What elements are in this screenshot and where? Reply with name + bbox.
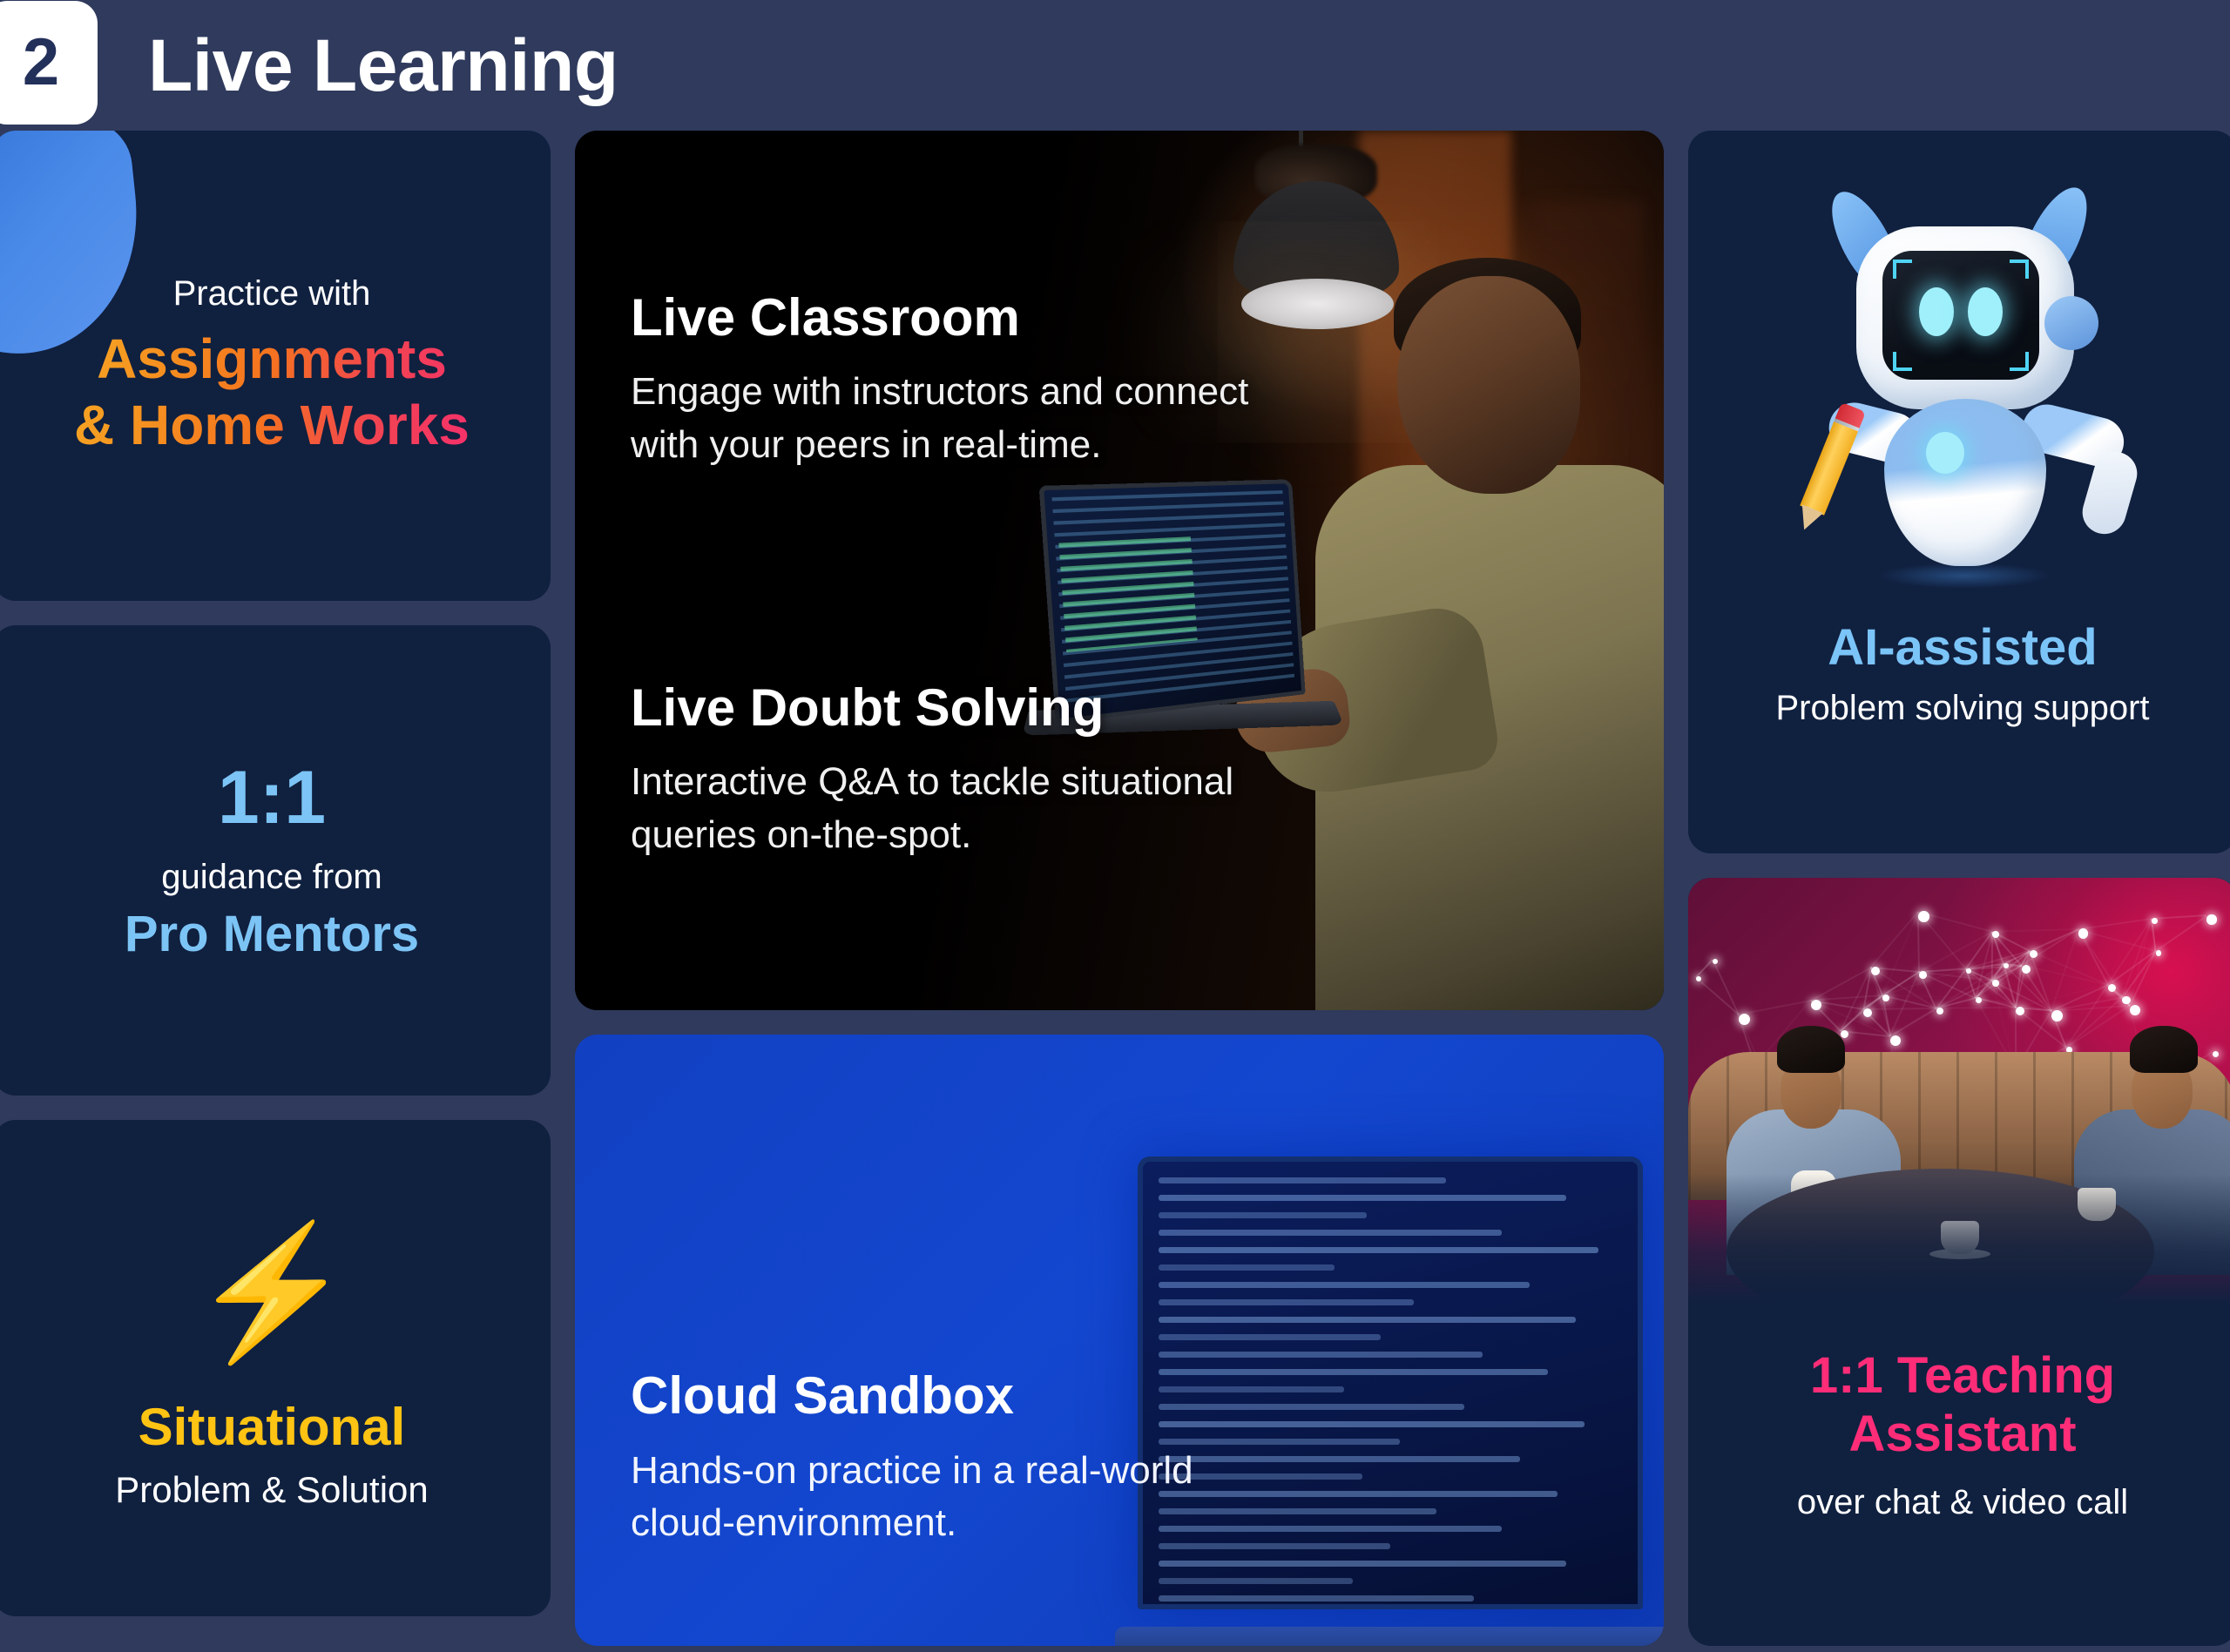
- situational-sub: Problem & Solution: [115, 1469, 429, 1511]
- mentors-headline: Pro Mentors: [125, 906, 419, 964]
- mentors-eyebrow: guidance from: [161, 858, 382, 897]
- live-doubt-solving-block: Live Doubt Solving Interactive Q&A to ta…: [575, 679, 1664, 861]
- lightning-bolt-icon: ⚡: [191, 1226, 354, 1357]
- content-grid: Practice with Assignments & Home Works 1…: [0, 131, 2230, 1646]
- cloud-sandbox-title: Cloud Sandbox: [631, 1365, 1193, 1426]
- teaching-assistant-sub: over chat & video call: [1706, 1483, 2220, 1522]
- ai-assisted-sub: Problem solving support: [1775, 689, 2149, 728]
- cloud-sandbox-card[interactable]: Cloud Sandbox Hands-on practice in a rea…: [575, 1035, 1664, 1646]
- right-column: AI-assisted Problem solving support: [1688, 131, 2230, 1646]
- mentor-conversation-photo: [1688, 878, 2230, 1305]
- page-header: 2 Live Learning: [0, 0, 2230, 131]
- live-classroom-card[interactable]: Live Classroom Engage with instructors a…: [575, 131, 1664, 1010]
- live-doubt-solving-title: Live Doubt Solving: [631, 679, 1608, 737]
- live-classroom-title: Live Classroom: [631, 289, 1608, 347]
- page-title: Live Learning: [148, 24, 618, 108]
- left-column: Practice with Assignments & Home Works 1…: [0, 131, 551, 1646]
- teaching-assistant-card[interactable]: 1:1 Teaching Assistant over chat & video…: [1688, 878, 2230, 1646]
- pro-mentors-card[interactable]: 1:1 guidance from Pro Mentors: [0, 625, 551, 1096]
- situational-headline: Situational: [139, 1397, 406, 1457]
- classroom-photo: [575, 131, 1664, 1010]
- assignments-eyebrow: Practice with: [173, 273, 371, 314]
- live-classroom-block: Live Classroom Engage with instructors a…: [575, 289, 1664, 471]
- ai-assisted-title: AI-assisted: [1828, 618, 2097, 677]
- teaching-assistant-text: 1:1 Teaching Assistant over chat & video…: [1688, 1305, 2230, 1522]
- teaching-assistant-title: 1:1 Teaching Assistant: [1706, 1346, 2220, 1464]
- live-doubt-solving-body: Interactive Q&A to tackle situational qu…: [631, 756, 1608, 861]
- cloud-sandbox-body: Hands-on practice in a real-world cloud-…: [631, 1445, 1193, 1550]
- center-column: Live Classroom Engage with instructors a…: [575, 131, 1664, 1646]
- step-number-badge: 2: [0, 1, 98, 125]
- assignments-headline: Assignments & Home Works: [74, 327, 470, 458]
- situational-card[interactable]: ⚡ Situational Problem & Solution: [0, 1120, 551, 1616]
- assignments-card[interactable]: Practice with Assignments & Home Works: [0, 131, 551, 601]
- sandbox-laptop-illustration: [1115, 1156, 1664, 1646]
- ai-assisted-card[interactable]: AI-assisted Problem solving support: [1688, 131, 2230, 853]
- step-number: 2: [23, 30, 59, 96]
- ai-robot-icon: [1780, 174, 2146, 583]
- mentors-ratio: 1:1: [218, 757, 326, 839]
- cloud-sandbox-text: Cloud Sandbox Hands-on practice in a rea…: [631, 1365, 1193, 1550]
- live-classroom-body: Engage with instructors and connect with…: [631, 366, 1608, 471]
